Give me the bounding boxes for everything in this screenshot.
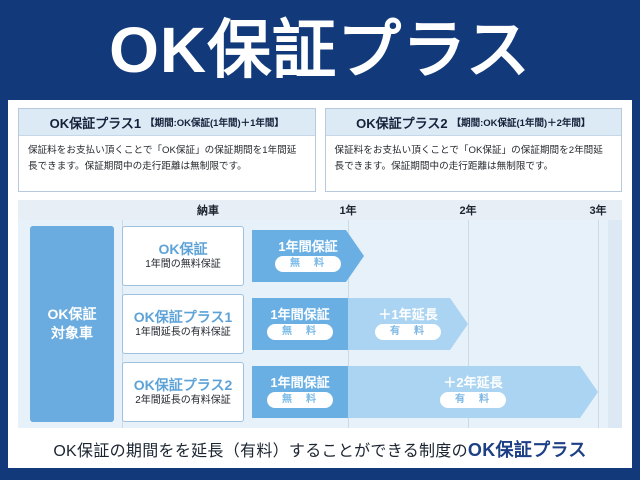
segment-row3-extension: ＋2年延長 有 料	[348, 366, 598, 418]
segment-row2-base: 1年間保証 無 料	[252, 298, 348, 350]
segment-row3-base-pill: 無 料	[267, 392, 333, 409]
page-title: OK保証プラス	[109, 18, 531, 82]
plan-card-ok-hosho[interactable]: OK保証 1年間の無料保証	[122, 226, 244, 286]
info-box-plus1-name: OK保証プラス1	[50, 113, 141, 132]
target-vehicle-block: OK保証 対象車	[30, 226, 114, 422]
timeline-header-band	[18, 200, 622, 220]
timeline-row-plus2: OK保証プラス2 2年間延長の有料保証 1年間保証 無 料 ＋2年延長 有 料	[122, 362, 618, 422]
target-vehicle-line1: OK保証	[48, 305, 97, 324]
plan-card-plus2[interactable]: OK保証プラス2 2年間延長の有料保証	[122, 362, 244, 422]
segment-row1-base-label: 1年間保証	[278, 240, 337, 253]
plan-name-plus1: OK保証プラス1	[134, 310, 233, 325]
plan-name-ok-hosho: OK保証	[159, 242, 208, 257]
info-box-plus2-name: OK保証プラス2	[356, 113, 447, 132]
info-box-plus2-body: 保証料をお支払い頂くことで「OK保証」の保証期間を2年間延長できます。保証期間中…	[326, 136, 622, 191]
timeline-tick-delivery: 納車	[197, 202, 219, 218]
title-banner: OK保証プラス	[0, 0, 640, 100]
segment-row3-base-label: 1年間保証	[270, 376, 329, 389]
bottom-caption-text: OK保証の期間をを延長（有料）することができる制度の	[53, 437, 468, 461]
info-box-plus2-period: 【期間:OK保証(1年間)＋2年間】	[452, 115, 591, 129]
info-box-plus2-header: OK保証プラス2 【期間:OK保証(1年間)＋2年間】	[326, 109, 622, 136]
plan-sub-ok-hosho: 1年間の無料保証	[145, 259, 221, 270]
bottom-caption: OK保証の期間をを延長（有料）することができる制度のOK保証プラス	[8, 430, 632, 468]
infographic-root: OK保証プラス OK保証プラス1 【期間:OK保証(1年間)＋1年間】 保証料を…	[0, 0, 640, 480]
info-box-plus1-header: OK保証プラス1 【期間:OK保証(1年間)＋1年間】	[19, 109, 315, 136]
plan-sub-plus2: 2年間延長の有料保証	[135, 395, 231, 406]
info-box-plus1-body: 保証料をお支払い頂くことで「OK保証」の保証期間を1年間延長できます。保証期間中…	[19, 136, 315, 191]
timeline-panel: 納車 1年 2年 3年 OK保証 対象車 OK保証 1年間の無料保証	[18, 200, 622, 428]
timeline-tick-year3: 3年	[589, 202, 606, 218]
target-vehicle-line2: 対象車	[51, 324, 93, 343]
info-box-plus2: OK保証プラス2 【期間:OK保証(1年間)＋2年間】 保証料をお支払い頂くこと…	[325, 108, 623, 192]
timeline-tick-year1: 1年	[339, 202, 356, 218]
segment-row1-base: 1年間保証 無 料	[252, 230, 364, 282]
segment-row2-base-label: 1年間保証	[270, 308, 329, 321]
segment-row2-extension-pill: 有 料	[375, 324, 441, 341]
segment-row2-extension-label: ＋1年延長	[378, 308, 437, 321]
info-box-plus1-period: 【期間:OK保証(1年間)＋1年間】	[145, 115, 284, 129]
segment-row2-base-pill: 無 料	[267, 324, 333, 341]
segment-row3-extension-pill: 有 料	[440, 392, 506, 409]
info-box-plus1: OK保証プラス1 【期間:OK保証(1年間)＋1年間】 保証料をお支払い頂くこと…	[18, 108, 316, 192]
plan-card-plus1[interactable]: OK保証プラス1 1年間延長の有料保証	[122, 294, 244, 354]
plan-name-plus2: OK保証プラス2	[134, 378, 233, 393]
segment-row1-base-pill: 無 料	[275, 256, 341, 273]
timeline-tick-year2: 2年	[459, 202, 476, 218]
plan-sub-plus1: 1年間延長の有料保証	[135, 327, 231, 338]
timeline-row-plus1: OK保証プラス1 1年間延長の有料保証 1年間保証 無 料 ＋1年延長 有 料	[122, 294, 618, 354]
info-box-group: OK保証プラス1 【期間:OK保証(1年間)＋1年間】 保証料をお支払い頂くこと…	[18, 108, 622, 192]
content-frame: OK保証プラス1 【期間:OK保証(1年間)＋1年間】 保証料をお支払い頂くこと…	[8, 100, 632, 468]
segment-row3-base: 1年間保証 無 料	[252, 366, 348, 418]
timeline-row-ok-hosho: OK保証 1年間の無料保証 1年間保証 無 料	[122, 226, 618, 286]
segment-row3-extension-label: ＋2年延長	[443, 376, 502, 389]
segment-row2-extension: ＋1年延長 有 料	[348, 298, 468, 350]
bottom-caption-strong: OK保証プラス	[468, 436, 587, 462]
